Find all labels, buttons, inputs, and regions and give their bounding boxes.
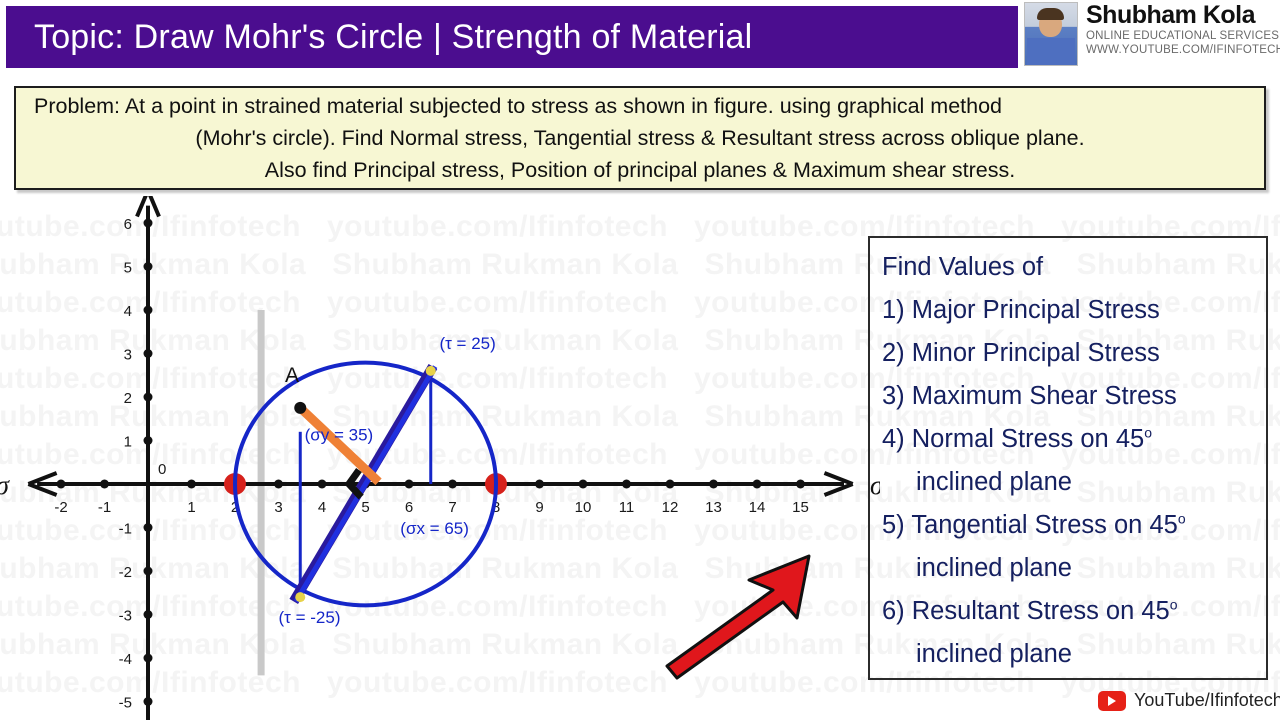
sigma-y-line (300, 408, 378, 482)
find-item-text: Minor Principal Stress (912, 339, 1160, 367)
y-tick-dot (144, 523, 153, 532)
y-tick-label: -2 (119, 564, 132, 581)
find-item-6-cont: inclined plane (882, 633, 1266, 676)
find-item-number: 1) (882, 296, 912, 324)
find-item-text: Major Principal Stress (912, 296, 1160, 324)
x-tick-label: 1 (187, 499, 195, 516)
y-tick-label: 3 (124, 347, 132, 364)
x-tick-dot (405, 480, 414, 489)
red-pointer-arrow (645, 540, 845, 680)
x-tick-dot (318, 480, 327, 489)
point-A (294, 402, 306, 414)
find-item-1: 1) Major Principal Stress (882, 289, 1266, 332)
y-tick-dot (144, 219, 153, 228)
x-tick-label: 10 (575, 499, 592, 516)
brand-url: WWW.YOUTUBE.COM/IFINFOTECH (1086, 43, 1280, 57)
youtube-handle-label: YouTube/Ifinfotech (1134, 690, 1280, 711)
x-tick-label: 13 (705, 499, 722, 516)
y-tick-dot (144, 436, 153, 445)
find-item-5: 5) Tangential Stress on 45o (882, 504, 1266, 547)
degree-symbol: o (1144, 425, 1152, 441)
brand-logo: Shubham Kola ONLINE EDUCATIONAL SERVICES… (1024, 2, 1280, 68)
problem-statement-box: Problem: At a point in strained material… (14, 86, 1266, 190)
y-tick-dot (144, 654, 153, 663)
sigma-axis-label-left: σ (0, 470, 11, 500)
find-values-list: 1) Major Principal Stress2) Minor Princi… (882, 289, 1266, 676)
find-item-text: Normal Stress on 45 (912, 425, 1144, 453)
x-tick-label: 7 (448, 499, 456, 516)
instructor-avatar (1024, 2, 1078, 66)
page-title: Topic: Draw Mohr's Circle | Strength of … (34, 18, 752, 57)
y-tick-dot (144, 349, 153, 358)
y-tick-dot (144, 610, 153, 619)
x-tick-dot (535, 480, 544, 489)
y-tick-label: 1 (124, 434, 132, 451)
x-tick-label: 15 (792, 499, 809, 516)
x-tick-dot (796, 480, 805, 489)
y-tick-label: -1 (119, 521, 132, 538)
x-tick-dot (100, 480, 109, 489)
y-tick-dot (144, 393, 153, 402)
header-bar: Topic: Draw Mohr's Circle | Strength of … (6, 6, 1018, 68)
x-tick-label: 11 (619, 499, 635, 516)
youtube-play-icon[interactable] (1098, 691, 1126, 711)
find-item-number: 5) (882, 511, 911, 539)
find-item-2: 2) Minor Principal Stress (882, 332, 1266, 375)
sigma-x-label: (σx = 65) (400, 519, 469, 538)
x-tick-dot (579, 480, 588, 489)
x-tick-label: 9 (535, 499, 543, 516)
y-tick-dot (144, 697, 153, 706)
x-tick-dot (709, 480, 718, 489)
find-item-5-cont: inclined plane (882, 547, 1266, 590)
y-tick-label: -4 (119, 651, 132, 668)
x-tick-dot (187, 480, 196, 489)
find-item-number: 3) (882, 382, 912, 410)
y-tick-dot (144, 262, 153, 271)
x-tick-label: 14 (749, 499, 766, 516)
y-tick-label: 2 (124, 390, 132, 407)
problem-line-2: (Mohr's circle). Find Normal stress, Tan… (26, 122, 1254, 154)
brand-tagline: ONLINE EDUCATIONAL SERVICES (1086, 29, 1280, 43)
x-tick-dot (622, 480, 631, 489)
x-tick-label: 6 (405, 499, 413, 516)
y-tick-label: 4 (124, 303, 132, 320)
degree-symbol: o (1178, 511, 1186, 527)
find-item-6: 6) Resultant Stress on 45o (882, 590, 1266, 633)
problem-line-3: Also find Principal stress, Position of … (26, 154, 1254, 186)
x-tick-label: -1 (98, 499, 111, 516)
find-item-number: 6) (882, 597, 912, 625)
youtube-badge[interactable]: YouTube/Ifinfotech (1098, 690, 1280, 711)
find-item-3: 3) Maximum Shear Stress (882, 375, 1266, 418)
find-item-4: 4) Normal Stress on 45o (882, 418, 1266, 461)
avatar-shirt (1027, 38, 1075, 65)
problem-line-1: Problem: At a point in strained material… (26, 90, 1254, 122)
find-item-text: Tangential Stress on 45 (911, 511, 1178, 539)
find-item-number: 2) (882, 339, 912, 367)
x-tick-label: -2 (54, 499, 67, 516)
y-tick-dot (144, 306, 153, 315)
degree-symbol: o (1170, 597, 1178, 613)
find-panel-heading: Find Values of (882, 246, 1266, 289)
slide-root: Shubham Rukman KolaShubham Rukman KolaSh… (0, 0, 1280, 720)
brand-name: Shubham Kola (1086, 2, 1280, 29)
tau-negative-label: (τ = -25) (279, 608, 341, 627)
find-item-text: Maximum Shear Stress (912, 382, 1177, 410)
sigma-y-label: (σy = 35) (305, 426, 374, 445)
x-tick-label: 3 (274, 499, 282, 516)
y-tick-dot (144, 567, 153, 576)
find-item-4-cont: inclined plane (882, 461, 1266, 504)
point-tau-positive (426, 366, 436, 376)
x-tick-label: 12 (662, 499, 679, 516)
y-tick-label: 6 (124, 216, 132, 233)
y-tick-label: -3 (119, 608, 132, 625)
x-tick-label: 5 (361, 499, 369, 516)
x-tick-dot (666, 480, 675, 489)
find-item-text: Resultant Stress on 45 (912, 597, 1170, 625)
point-A-label: A (285, 364, 299, 387)
brand-text: Shubham Kola ONLINE EDUCATIONAL SERVICES… (1086, 2, 1280, 57)
x-tick-dot (57, 480, 66, 489)
tau-positive-label: (τ = 25) (439, 334, 495, 353)
find-values-panel: Find Values of 1) Major Principal Stress… (868, 236, 1268, 680)
y-tick-label: 5 (124, 260, 132, 277)
point-tau-negative (295, 592, 305, 602)
avatar-hair (1037, 8, 1064, 20)
x-tick-dot (753, 480, 762, 489)
origin-label: 0 (158, 461, 166, 478)
y-tick-label: -5 (119, 695, 132, 712)
x-tick-dot (274, 480, 283, 489)
x-tick-label: 4 (318, 499, 326, 516)
x-tick-dot (448, 480, 457, 489)
find-item-number: 4) (882, 425, 912, 453)
